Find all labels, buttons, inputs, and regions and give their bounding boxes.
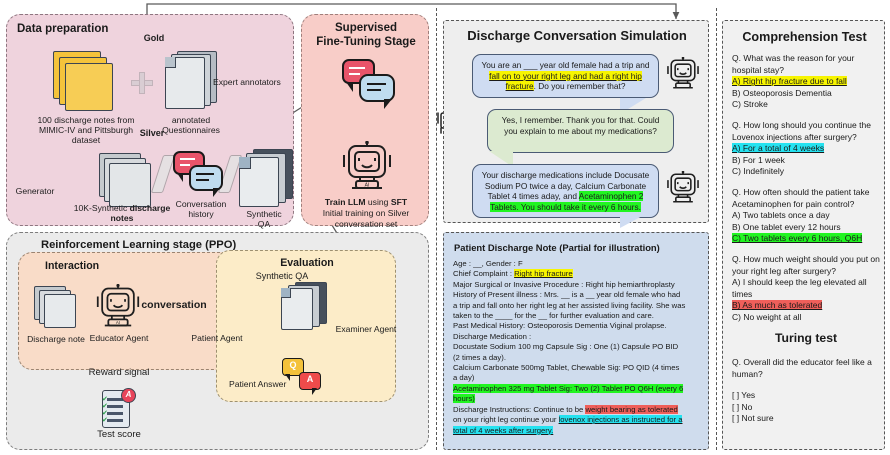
- turing-option[interactable]: [ ] Not sure: [732, 413, 880, 425]
- discharge-note-line: Past Medical History: Osteoporosis Demen…: [453, 321, 703, 331]
- discharge-note-body: Age : __, Gender : FChief Complaint : Ri…: [453, 259, 703, 436]
- note-segment: Right hip fracture: [514, 269, 573, 278]
- sft-robot-icon: AI: [342, 141, 392, 193]
- test-option[interactable]: A) Two tablets once a day: [732, 210, 880, 222]
- test-question-block: Q. How often should the patient take Ace…: [732, 187, 880, 245]
- test-option[interactable]: C) Two tablets every 6 hours, Q6H: [732, 233, 880, 245]
- test-question-block: Q. What was the reason for your hospital…: [732, 53, 880, 111]
- note-segment: taken to the ____ for the __ for further…: [453, 311, 654, 320]
- chat-bubble-educator-2: Your discharge medications include Docus…: [472, 164, 659, 218]
- discharge-note-title: Patient Discharge Note (Partial for illu…: [454, 242, 660, 253]
- test-option-label: A) Right hip fracture due to fall: [732, 76, 847, 86]
- test-option[interactable]: A) Right hip fracture due to fall: [732, 76, 880, 88]
- educator-agent-icon: AI: [96, 284, 140, 330]
- test-question-block: Q. How much weight should you put on you…: [732, 254, 880, 324]
- turing-option-label: No: [739, 402, 752, 412]
- gold-notes-label: 100 discharge notes from MIMIC-IV and Pi…: [29, 115, 143, 145]
- gold-notes-stack: [53, 51, 117, 113]
- discharge-note-line: Docustate Sodium 100 mg Capsule Sig : On…: [453, 342, 703, 352]
- svg-text:AI: AI: [116, 320, 120, 325]
- discharge-note-line: a day): [453, 373, 703, 383]
- educator-agent-label: Educator Agent: [84, 333, 154, 343]
- synthetic-qa-label: Synthetic QA: [239, 209, 289, 229]
- rl-title: Reinforcement Learning stage (PPO): [41, 239, 236, 251]
- panel-comprehension-test: Comprehension Test Q. What was the reaso…: [722, 20, 885, 450]
- bubble1-p2: . Do you remember that?: [534, 81, 626, 91]
- discharge-note-line: Major Surgical or Invasive Procedure : R…: [453, 280, 703, 290]
- discharge-note-line: Acetaminophen 325 mg Tablet Sig: Two (2)…: [453, 384, 703, 394]
- column-separator-2: [716, 8, 717, 450]
- test-question-block: Q. How long should you continue the Love…: [732, 120, 880, 178]
- discharge-note-line: taken to the ____ for the __ for further…: [453, 311, 703, 321]
- generator-label: Generator: [9, 186, 61, 196]
- test-option-label: B) For 1 week: [732, 155, 785, 165]
- discharge-note-line: on your right leg continue your lovenox …: [453, 415, 703, 425]
- discharge-note-line: History of Present illness : Mrs. __ is …: [453, 290, 703, 300]
- discharge-note-line: hours): [453, 394, 703, 404]
- questionnaires-label: annotated Questionnaires: [155, 115, 227, 135]
- test-score-icon: ✔ ✔ ✔ ✔ A: [100, 388, 138, 430]
- discharge-note-line: Calcium Carbonate 500mg Tablet, Chewable…: [453, 363, 703, 373]
- column-separator-1: [436, 8, 437, 450]
- gold-label: Gold: [129, 33, 179, 43]
- conversation-label: conversation: [141, 300, 207, 310]
- note-segment: weight bearing as tolerated: [585, 405, 677, 414]
- discharge-note-line: Chief Complaint : Right hip fracture: [453, 269, 703, 279]
- note-segment: (2 times a day).: [453, 353, 506, 362]
- discharge-note-line: Discharge Medication :: [453, 332, 703, 342]
- educator-robot-icon-2: [666, 171, 700, 205]
- discharge-note-line: a trip and fall onto her right leg at he…: [453, 301, 703, 311]
- test-option[interactable]: C) Stroke: [732, 99, 880, 111]
- reward-signal-label: Reward signal: [78, 368, 160, 378]
- simulation-title: Discharge Conversation Simulation: [444, 28, 710, 43]
- sft-title: Supervised Fine-Tuning Stage: [302, 21, 430, 49]
- bubble2-p0: Yes, I remember. Thank you for that. Cou…: [502, 115, 660, 136]
- synthetic-notes-prefix: 10K-Synthetic: [74, 203, 130, 213]
- interaction-title: Interaction: [45, 260, 99, 272]
- sft-title-line1: Supervised: [302, 21, 430, 35]
- discharge-note-line: total of 4 weeks after surgery.: [453, 426, 703, 436]
- examiner-agent-label: Examiner Agent: [328, 324, 404, 334]
- data-preparation-title: Data preparation: [17, 23, 108, 35]
- note-segment: hours): [453, 394, 475, 403]
- test-option-label: C) Two tablets every 6 hours, Q6H: [732, 233, 862, 243]
- turing-option-label: Yes: [739, 390, 755, 400]
- note-segment: on your right leg continue your: [453, 415, 559, 424]
- panel-supervised-fine-tuning: Supervised Fine-Tuning Stage: [301, 14, 429, 226]
- evaluation-synthetic-qa-label: Synthetic QA: [237, 271, 327, 281]
- rl-discharge-note-label: Discharge note: [22, 334, 90, 344]
- discharge-note-line: (2 times a day).: [453, 353, 703, 363]
- test-option-label: C) No weight at all: [732, 312, 801, 322]
- turing-option[interactable]: [ ] No: [732, 402, 880, 414]
- patient-agent-label: Patient Agent: [185, 333, 249, 343]
- note-segment: History of Present illness : Mrs. __ is …: [453, 290, 680, 299]
- conversation-history-label: Conversation history: [165, 199, 237, 219]
- test-question-text: Q. How often should the patient take Ace…: [732, 187, 880, 210]
- rl-discharge-note-stack: [34, 286, 80, 330]
- test-option-label: A) For a total of 4 weeks: [732, 143, 824, 153]
- questionnaires-stack: [165, 51, 219, 113]
- note-segment: lovenox injections as instructed for a: [559, 415, 683, 424]
- sft-caption-using: using: [366, 197, 391, 207]
- test-option-label: A) Two tablets once a day: [732, 210, 830, 220]
- test-option-label: B) Osteoporosis Dementia: [732, 88, 832, 98]
- note-segment: Docustate Sodium 100 mg Capsule Sig : On…: [453, 342, 678, 351]
- figure-root: Data preparation Gold Silver 100 dischar…: [0, 0, 890, 455]
- test-option-label: A) I should keep the leg elevated all ti…: [732, 277, 867, 299]
- discharge-note-line: Age : __, Gender : F: [453, 259, 703, 269]
- educator-robot-icon-1: [666, 57, 700, 91]
- panel-patient-discharge-note: Patient Discharge Note (Partial for illu…: [443, 232, 709, 450]
- sft-title-line2: Fine-Tuning Stage: [302, 35, 430, 49]
- test-option[interactable]: B) Osteoporosis Dementia: [732, 88, 880, 100]
- chat-bubble-patient-1: Yes, I remember. Thank you for that. Cou…: [487, 109, 674, 153]
- note-segment: a day): [453, 373, 474, 382]
- test-option-label: C) Stroke: [732, 99, 768, 109]
- test-option[interactable]: A) For a total of 4 weeks: [732, 143, 880, 155]
- sft-caption-line2: Initial training on Silver: [310, 208, 422, 219]
- patient-answer-label: Patient Answer: [229, 379, 291, 389]
- sft-caption-sft: SFT: [391, 197, 407, 207]
- panel-data-preparation: Data preparation Gold Silver 100 dischar…: [6, 14, 294, 226]
- test-option[interactable]: A) I should keep the leg elevated all ti…: [732, 277, 880, 300]
- turing-option-label: Not sure: [739, 413, 774, 423]
- sft-caption-line3: conversation set: [310, 219, 422, 230]
- note-segment: Acetaminophen 325 mg Tablet Sig: Two (2)…: [453, 384, 683, 393]
- comprehension-test-body: Q. What was the reason for your hospital…: [732, 53, 880, 425]
- test-option-label: C) Indefinitely: [732, 166, 784, 176]
- synthetic-qa-stack: [239, 149, 297, 209]
- test-option[interactable]: B) For 1 week: [732, 155, 880, 167]
- note-segment: total of 4 weeks after surgery.: [453, 426, 553, 435]
- rl-discharge-note-text: Discharge note: [27, 334, 85, 344]
- sft-caption: Train LLM using SFT Initial training on …: [310, 197, 422, 230]
- chat-bubble-educator-1: You are an ___ year old female had a tri…: [472, 54, 659, 98]
- sft-caption-train: Train LLM: [325, 197, 366, 207]
- test-option[interactable]: B) As much as tolerated: [732, 300, 880, 312]
- turing-question-text: Q. Overall did the educator feel like a …: [732, 357, 880, 380]
- note-segment: Chief Complaint :: [453, 269, 514, 278]
- test-option-label: B) One tablet every 12 hours: [732, 222, 841, 232]
- panel-discharge-conversation-simulation: Discharge Conversation Simulation You ar…: [443, 20, 709, 223]
- eval-synthetic-qa-stack: [281, 282, 329, 334]
- test-option[interactable]: B) One tablet every 12 hours: [732, 222, 880, 234]
- turing-option[interactable]: [ ] Yes: [732, 390, 880, 402]
- note-segment: Major Surgical or Invasive Procedure : R…: [453, 280, 675, 289]
- expert-annotators-label: Expert annotators: [213, 77, 293, 87]
- test-question-text: Q. What was the reason for your hospital…: [732, 53, 880, 76]
- test-question-text: Q. How much weight should you put on you…: [732, 254, 880, 277]
- test-question-text: Q. How long should you continue the Love…: [732, 120, 880, 143]
- test-option[interactable]: C) Indefinitely: [732, 166, 880, 178]
- conversation-history-icon: [173, 151, 225, 197]
- test-option[interactable]: C) No weight at all: [732, 312, 880, 324]
- discharge-note-line: Discharge Instructions: Continue to be w…: [453, 405, 703, 415]
- bubble1-p0: You are an ___ year old female had a tri…: [481, 60, 649, 70]
- note-segment: Discharge Instructions: Continue to be: [453, 405, 585, 414]
- chat-bubble-educator-2-tail: [620, 214, 646, 228]
- note-segment: Calcium Carbonate 500mg Tablet, Chewable…: [453, 363, 679, 372]
- note-segment: Past Medical History: Osteoporosis Demen…: [453, 321, 667, 330]
- note-segment: Age : __, Gender : F: [453, 259, 523, 268]
- test-option-label: B) As much as tolerated: [732, 300, 822, 310]
- a-badge-text: A: [299, 372, 321, 390]
- turing-test-title: Turing test: [732, 333, 880, 345]
- sft-conversation-icon: [342, 59, 396, 107]
- note-segment: a trip and fall onto her right leg at he…: [453, 301, 685, 310]
- note-segment: Discharge Medication :: [453, 332, 531, 341]
- comprehension-test-title: Comprehension Test: [723, 30, 886, 44]
- svg-text:AI: AI: [365, 183, 370, 189]
- synthetic-notes-label: 10K-Synthetic discharge notes: [65, 203, 179, 223]
- plus-icon: [131, 72, 153, 94]
- evaluation-title: Evaluation: [217, 257, 397, 269]
- test-score-label: Test score: [86, 430, 152, 440]
